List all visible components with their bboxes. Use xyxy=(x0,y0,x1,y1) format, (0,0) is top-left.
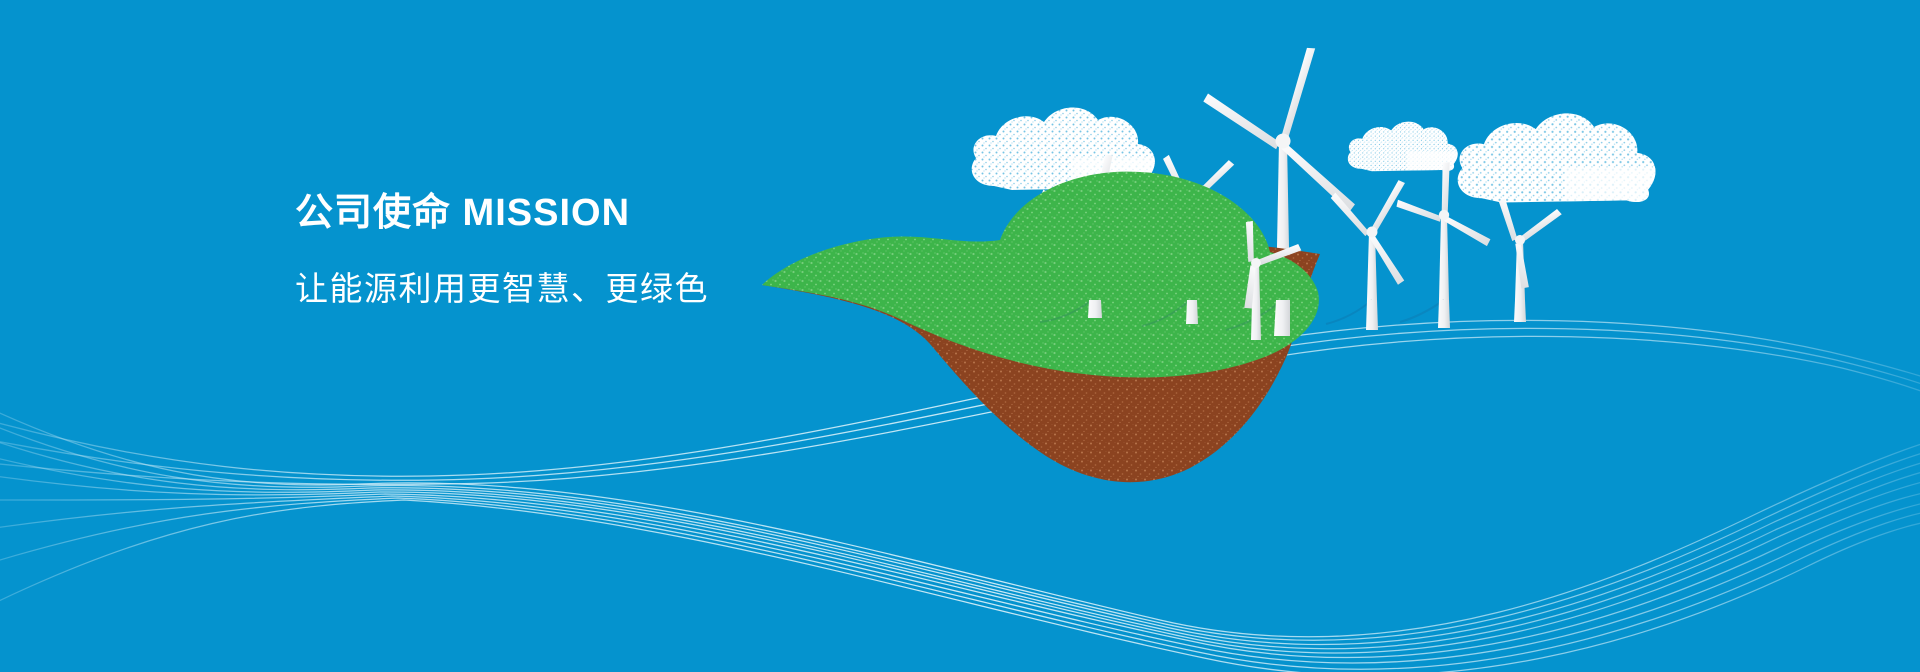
page-title: 公司使命 MISSION xyxy=(295,190,935,238)
cloud-right-icon xyxy=(1458,113,1656,202)
turbine-4 xyxy=(1311,154,1449,300)
mission-text-block: 公司使命 MISSION 让能源利用更智慧、更绿色 xyxy=(295,190,935,310)
cloud-middle-icon xyxy=(1348,122,1458,172)
mission-banner: 公司使命 MISSION 让能源利用更智慧、更绿色 xyxy=(0,0,1920,672)
page-subtitle: 让能源利用更智慧、更绿色 xyxy=(295,268,935,311)
